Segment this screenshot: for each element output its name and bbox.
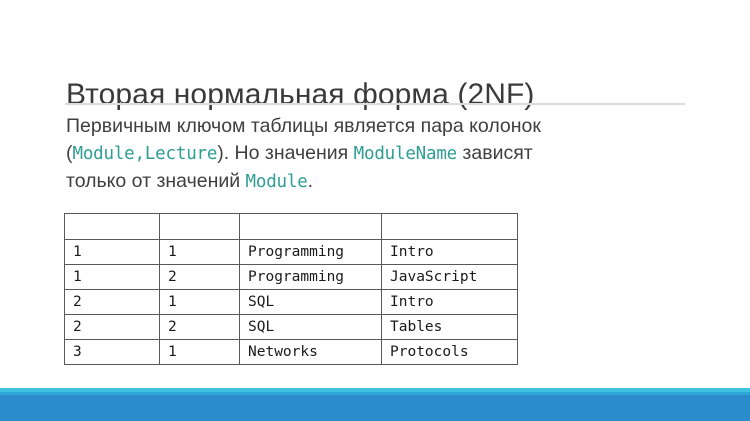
table-header-cell-1 xyxy=(160,214,240,240)
table-row: 3 1 Networks Protocols xyxy=(65,340,518,365)
table-cell-lecture: 1 xyxy=(160,340,240,365)
table-cell-lecturename: Intro xyxy=(382,290,518,315)
table-cell-lecture: 1 xyxy=(160,240,240,265)
body-line-3-pre: только от значений xyxy=(66,170,246,192)
table-cell-lecture: 2 xyxy=(160,315,240,340)
table-cell-modulename: Networks xyxy=(240,340,382,365)
body-line-3-post: . xyxy=(308,170,313,192)
table-row: 1 1 Programming Intro xyxy=(65,240,518,265)
lecture-data-table: 1 1 Programming Intro 1 2 Programming Ja… xyxy=(64,213,518,365)
table-cell-modulename: Programming xyxy=(240,265,382,290)
table-cell-lecture: 2 xyxy=(160,265,240,290)
body-line-1-text: Первичным ключом таблицы является пара к… xyxy=(66,115,541,137)
table-header-cell-2 xyxy=(240,214,382,240)
table-cell-lecturename: Intro xyxy=(382,240,518,265)
code-module: Module xyxy=(246,172,308,192)
table-cell-lecturename: Protocols xyxy=(382,340,518,365)
table-cell-lecture: 1 xyxy=(160,290,240,315)
table-row: 2 2 SQL Tables xyxy=(65,315,518,340)
table-cell-module: 3 xyxy=(65,340,160,365)
code-modulename: ModuleName xyxy=(354,144,457,164)
body-line-1: Первичным ключом таблицы является пара к… xyxy=(66,113,666,140)
body-line-2: (Module,Lecture). Но значения ModuleName… xyxy=(66,140,666,168)
table-cell-modulename: SQL xyxy=(240,290,382,315)
table-cell-module: 2 xyxy=(65,315,160,340)
table-row: 1 2 Programming JavaScript xyxy=(65,265,518,290)
presentation-slide: Вторая нормальная форма (2NF) Первичным … xyxy=(0,0,750,421)
table-cell-module: 2 xyxy=(65,290,160,315)
table-row: 2 1 SQL Intro xyxy=(65,290,518,315)
body-line-2-mid: ). Но значения xyxy=(217,142,353,164)
table-cell-modulename: SQL xyxy=(240,315,382,340)
slide-body-text: Первичным ключом таблицы является пара к… xyxy=(66,113,666,196)
table-cell-lecturename: JavaScript xyxy=(382,265,518,290)
table-body: 1 1 Programming Intro 1 2 Programming Ja… xyxy=(65,214,518,365)
table-header-cell-3 xyxy=(382,214,518,240)
table-cell-modulename: Programming xyxy=(240,240,382,265)
table-cell-module: 1 xyxy=(65,265,160,290)
table-header-cell-0 xyxy=(65,214,160,240)
code-module-lecture: Module,Lecture xyxy=(73,144,218,164)
title-divider xyxy=(65,103,685,105)
footer-bar xyxy=(0,395,750,421)
table-cell-module: 1 xyxy=(65,240,160,265)
slide-title: Вторая нормальная форма (2NF) xyxy=(66,74,535,116)
table-cell-lecturename: Tables xyxy=(382,315,518,340)
body-line-2-post: зависят xyxy=(457,142,533,164)
table-header-row xyxy=(65,214,518,240)
body-line-3: только от значений Module. xyxy=(66,168,666,196)
